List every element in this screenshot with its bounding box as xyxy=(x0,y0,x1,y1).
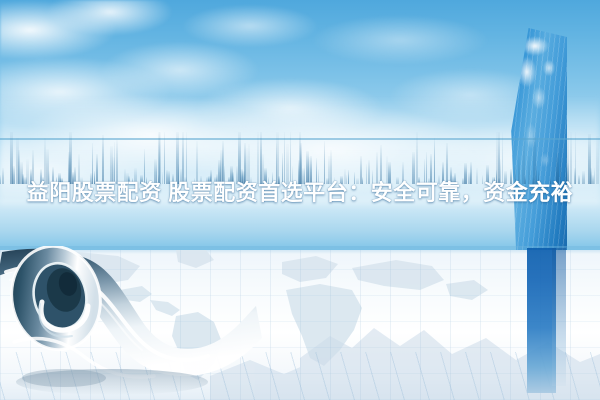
page-title: 益阳股票配资 股票配资首选平台：安全可靠，资金充裕 xyxy=(0,175,600,211)
glass-tower-base-edge xyxy=(552,248,566,386)
banner-image: 益阳股票配资 股票配资首选平台：安全可靠，资金充裕 xyxy=(0,0,600,400)
rolled-paper-graphic xyxy=(0,246,324,396)
